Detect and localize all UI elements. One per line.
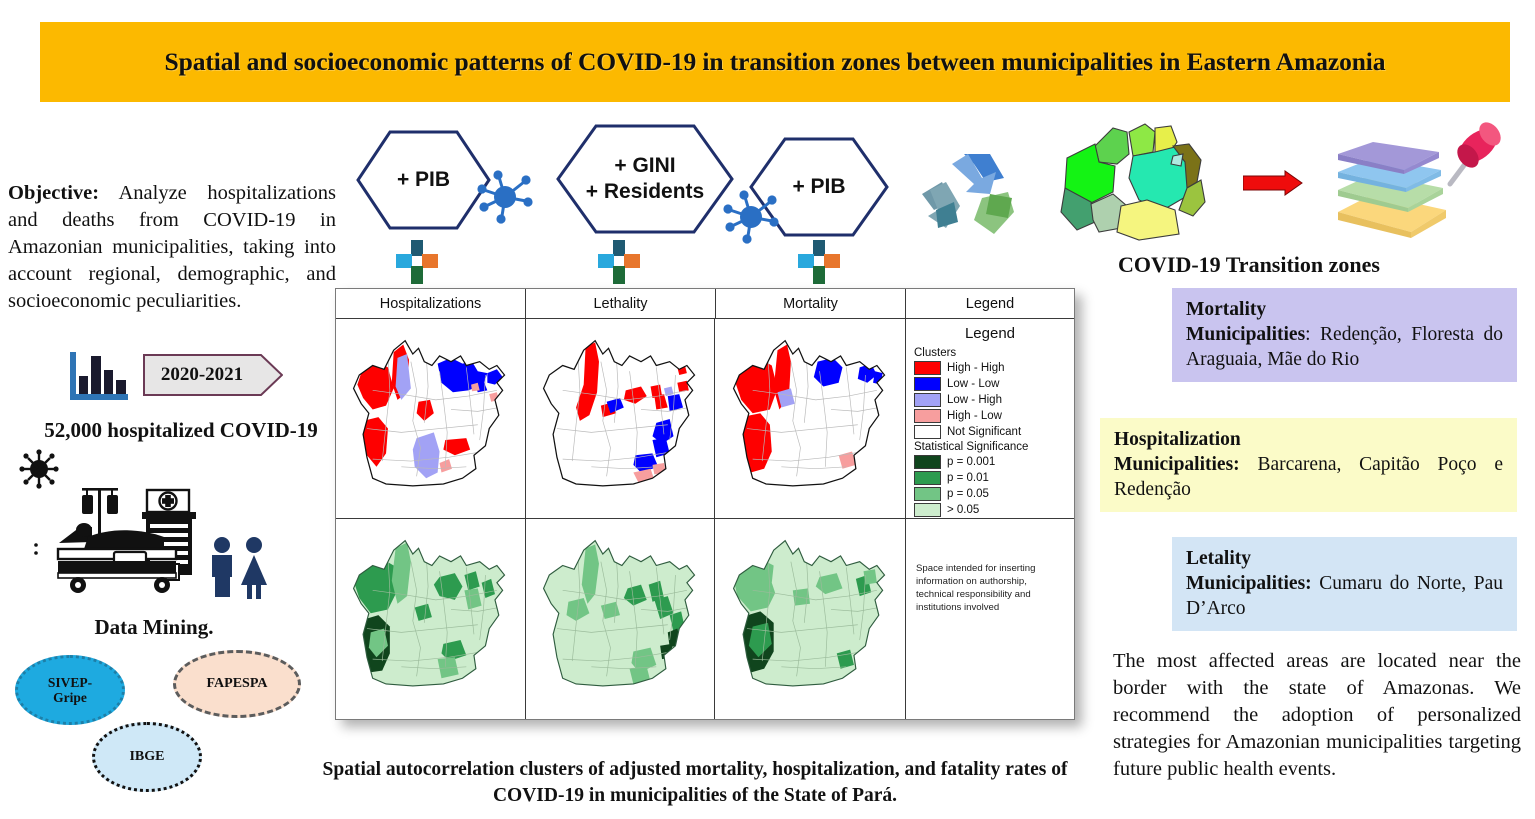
- medical-cross-icon: [798, 240, 840, 284]
- map-body: Legend Clusters High - High Low - Low Lo…: [336, 319, 1074, 719]
- map-header-lethality: Lethality: [526, 289, 716, 318]
- map-header-mortality: Mortality: [716, 289, 906, 318]
- network-node-icon: [721, 188, 781, 246]
- legend-label-gt-005: > 0.05: [947, 504, 979, 516]
- legend-swatch-low-high: [914, 393, 941, 407]
- source-ellipse-fapespa: FAPESPA: [173, 650, 301, 718]
- legend-label-low-high: Low - High: [947, 394, 1002, 406]
- legend-swatch-not-significant: [914, 425, 941, 439]
- legend-label-high-low: High - Low: [947, 410, 1002, 422]
- hexagon-pib-1: + PIB: [356, 130, 491, 230]
- medical-cross-icon: [396, 240, 438, 284]
- data-mining-label: Data Mining.: [14, 615, 294, 640]
- bar-chart-icon: [68, 348, 130, 404]
- source-label-sivep: SIVEP-Gripe: [48, 675, 92, 705]
- info-box-hospitalization: Hospitalization Municipalities: Barcaren…: [1100, 418, 1517, 512]
- legend-label-low-low: Low - Low: [947, 378, 999, 390]
- para-state-map: [534, 533, 706, 705]
- legend-item-low-high: Low - High: [914, 393, 1066, 407]
- legend-item-p-001: p = 0.01: [914, 471, 1066, 485]
- info-box-letality: Letality Municipalities: Cumaru do Norte…: [1172, 537, 1517, 631]
- authorship-placeholder-note: Space intended for inserting information…: [906, 519, 1074, 719]
- map-row-clusters: [336, 319, 905, 519]
- legend-label-not-significant: Not Significant: [947, 426, 1021, 438]
- transition-zones-title: COVID-19 Transition zones: [1118, 252, 1518, 278]
- para-state-map: [724, 333, 896, 505]
- virus-icon: [19, 449, 58, 554]
- push-pin-icon: [1438, 118, 1502, 190]
- source-label-ibge: IBGE: [129, 749, 164, 765]
- para-state-map: [534, 333, 706, 505]
- info-box-hospitalization-title: Hospitalization: [1114, 427, 1503, 452]
- legend-item-high-low: High - Low: [914, 409, 1066, 423]
- map-matrix-panel: Hospitalizations Lethality Mortality Leg…: [335, 288, 1075, 720]
- legend-label-p-0001: p = 0.001: [947, 456, 995, 468]
- graphical-abstract: Spatial and socioeconomic patterns of CO…: [0, 0, 1535, 819]
- info-box-mortality-title: Mortality: [1186, 297, 1503, 322]
- map-header-legend: Legend: [906, 289, 1074, 318]
- hexagon-shape: [556, 124, 734, 234]
- hospitalized-count-label: 52,000 hospitalized COVID-19: [16, 418, 346, 443]
- map-row-significance: [336, 519, 905, 719]
- legend-item-gt-005: > 0.05: [914, 503, 1066, 517]
- para-state-map: [344, 333, 516, 505]
- year-range-label: 2020-2021: [143, 354, 261, 396]
- red-arrow-icon: [1243, 170, 1303, 196]
- info-box-letality-title: Letality: [1186, 546, 1503, 571]
- legend-clusters-title: Clusters: [914, 347, 1066, 359]
- info-box-mortality-body: Municipalities: Redenção, Floresta do Ar…: [1186, 322, 1503, 372]
- medical-cross-icon: [598, 240, 640, 284]
- map-header-hospitalizations: Hospitalizations: [336, 289, 526, 318]
- map-lethality-significance: [526, 519, 716, 719]
- legend-column: Legend Clusters High - High Low - Low Lo…: [906, 319, 1074, 719]
- amazon-region-map-icon: [1055, 118, 1235, 248]
- info-box-hospitalization-body: Municipalities: Barcarena, Capitão Poço …: [1114, 452, 1503, 502]
- recycle-icon: [912, 148, 1022, 238]
- year-range-banner: 2020-2021: [143, 354, 283, 396]
- para-state-map: [724, 533, 896, 705]
- source-ellipse-sivep-gripe: SIVEP-Gripe: [15, 655, 125, 725]
- info-box-letality-body: Municipalities: Cumaru do Norte, Pau D’A…: [1186, 571, 1503, 621]
- legend-item-p-005: p = 0.05: [914, 487, 1066, 501]
- legend-label-p-005: p = 0.05: [947, 488, 989, 500]
- legend-swatch-low-low: [914, 377, 941, 391]
- source-label-fapespa: FAPESPA: [207, 676, 268, 692]
- network-node-icon: [475, 168, 535, 226]
- hospital-bed-icon: [14, 445, 274, 605]
- legend-item-p-0001: p = 0.001: [914, 455, 1066, 469]
- map-column-headers: Hospitalizations Lethality Mortality Leg…: [336, 289, 1074, 319]
- para-state-map: [344, 533, 516, 705]
- source-ellipse-ibge: IBGE: [92, 722, 202, 792]
- map-mortality-clusters: [715, 319, 905, 519]
- hexagon-shape: [356, 130, 491, 230]
- legend-swatch-p-005: [914, 487, 941, 501]
- page-title: Spatial and socioeconomic patterns of CO…: [165, 47, 1386, 77]
- info-box-mortality: Mortality Municipalities: Redenção, Flor…: [1172, 288, 1517, 382]
- legend-item-not-significant: Not Significant: [914, 425, 1066, 439]
- legend-item-low-low: Low - Low: [914, 377, 1066, 391]
- map-mortality-significance: [715, 519, 905, 719]
- people-icon: [212, 537, 267, 599]
- legend-swatch-gt-005: [914, 503, 941, 517]
- legend-item-high-high: High - High: [914, 361, 1066, 375]
- map-hospitalizations-significance: [336, 519, 526, 719]
- legend-swatch-high-low: [914, 409, 941, 423]
- map-layers-icon: [1298, 128, 1448, 240]
- legend-swatch-high-high: [914, 361, 941, 375]
- legend-swatch-p-0001: [914, 455, 941, 469]
- legend-significance-title: Statistical Significance: [914, 441, 1066, 453]
- legend-label-high-high: High - High: [947, 362, 1005, 374]
- legend-box: Legend Clusters High - High Low - Low Lo…: [906, 319, 1074, 519]
- legend-label-p-001: p = 0.01: [947, 472, 989, 484]
- objective-label: Objective:: [8, 182, 99, 204]
- map-grid: [336, 319, 906, 719]
- map-lethality-clusters: [526, 319, 716, 519]
- figure-caption: Spatial autocorrelation clusters of adju…: [300, 757, 1090, 809]
- title-banner: Spatial and socioeconomic patterns of CO…: [40, 22, 1510, 102]
- legend-swatch-p-001: [914, 471, 941, 485]
- objective-paragraph: Objective: Analyze hospitalizations and …: [8, 180, 336, 315]
- legend-title: Legend: [914, 325, 1066, 342]
- map-hospitalizations-clusters: [336, 319, 526, 519]
- conclusion-paragraph: The most affected areas are located near…: [1113, 648, 1521, 783]
- hexagon-gini-residents: + GINI + Residents: [556, 124, 734, 234]
